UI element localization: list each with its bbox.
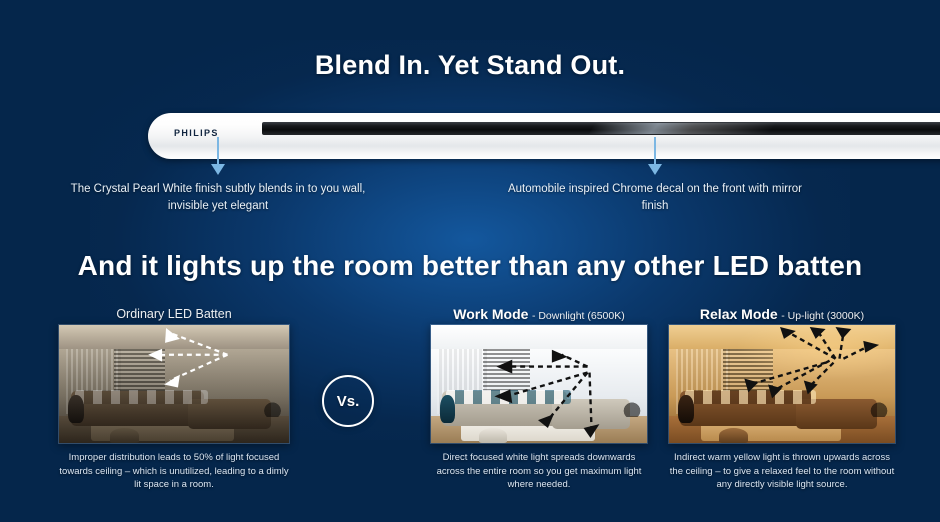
panel-mode-label: Work Mode — [453, 306, 528, 322]
callout-text: The Crystal Pearl White finish subtly bl… — [68, 181, 368, 215]
section-title: And it lights up the room better than an… — [0, 250, 940, 282]
callout-text: Automobile inspired Chrome decal on the … — [505, 181, 805, 215]
panel-mode-sub: - Up-light (3000K) — [781, 310, 864, 322]
product-image: PHILIPS — [148, 113, 940, 159]
panel-header: Work Mode - Downlight (6500K) — [430, 305, 648, 324]
panel-caption: Direct focused white light spreads downw… — [430, 451, 648, 492]
panel-work-mode: Work Mode - Downlight (6500K) — [430, 305, 648, 492]
arrow-down-icon — [648, 164, 662, 175]
vs-badge: Vs. — [322, 375, 374, 427]
panel-ordinary-led-batten: Ordinary LED Batten — [58, 305, 290, 492]
led-batten-body: PHILIPS — [148, 113, 940, 159]
panel-header: Relax Mode - Up-light (3000K) — [668, 305, 896, 324]
chrome-glint — [589, 123, 775, 134]
chrome-decal-strip — [262, 122, 940, 135]
light-direction-arrows-work — [431, 325, 647, 444]
panel-mode-label: Ordinary LED Batten — [116, 307, 231, 321]
advertisement-canvas: Blend In. Yet Stand Out. PHILIPS The Cry… — [0, 0, 940, 522]
panel-caption: Indirect warm yellow light is thrown upw… — [668, 451, 896, 492]
callout-line — [654, 137, 656, 165]
light-direction-arrows-relax — [669, 325, 895, 444]
panel-mode-label: Relax Mode — [700, 306, 778, 322]
philips-logo: PHILIPS — [174, 128, 219, 138]
arrow-down-icon — [211, 164, 225, 175]
room-photo-ordinary — [58, 324, 290, 444]
panel-caption: Improper distribution leads to 50% of li… — [58, 451, 290, 492]
callout-line — [217, 137, 219, 165]
room-photo-relax-mode — [668, 324, 896, 444]
panel-header: Ordinary LED Batten — [58, 305, 290, 324]
light-direction-arrows-ordinary — [59, 325, 289, 444]
room-photo-work-mode — [430, 324, 648, 444]
panel-mode-sub: - Downlight (6500K) — [532, 310, 625, 322]
panel-relax-mode: Relax Mode - Up-light (3000K) — [668, 305, 896, 492]
page-title: Blend In. Yet Stand Out. — [0, 50, 940, 81]
